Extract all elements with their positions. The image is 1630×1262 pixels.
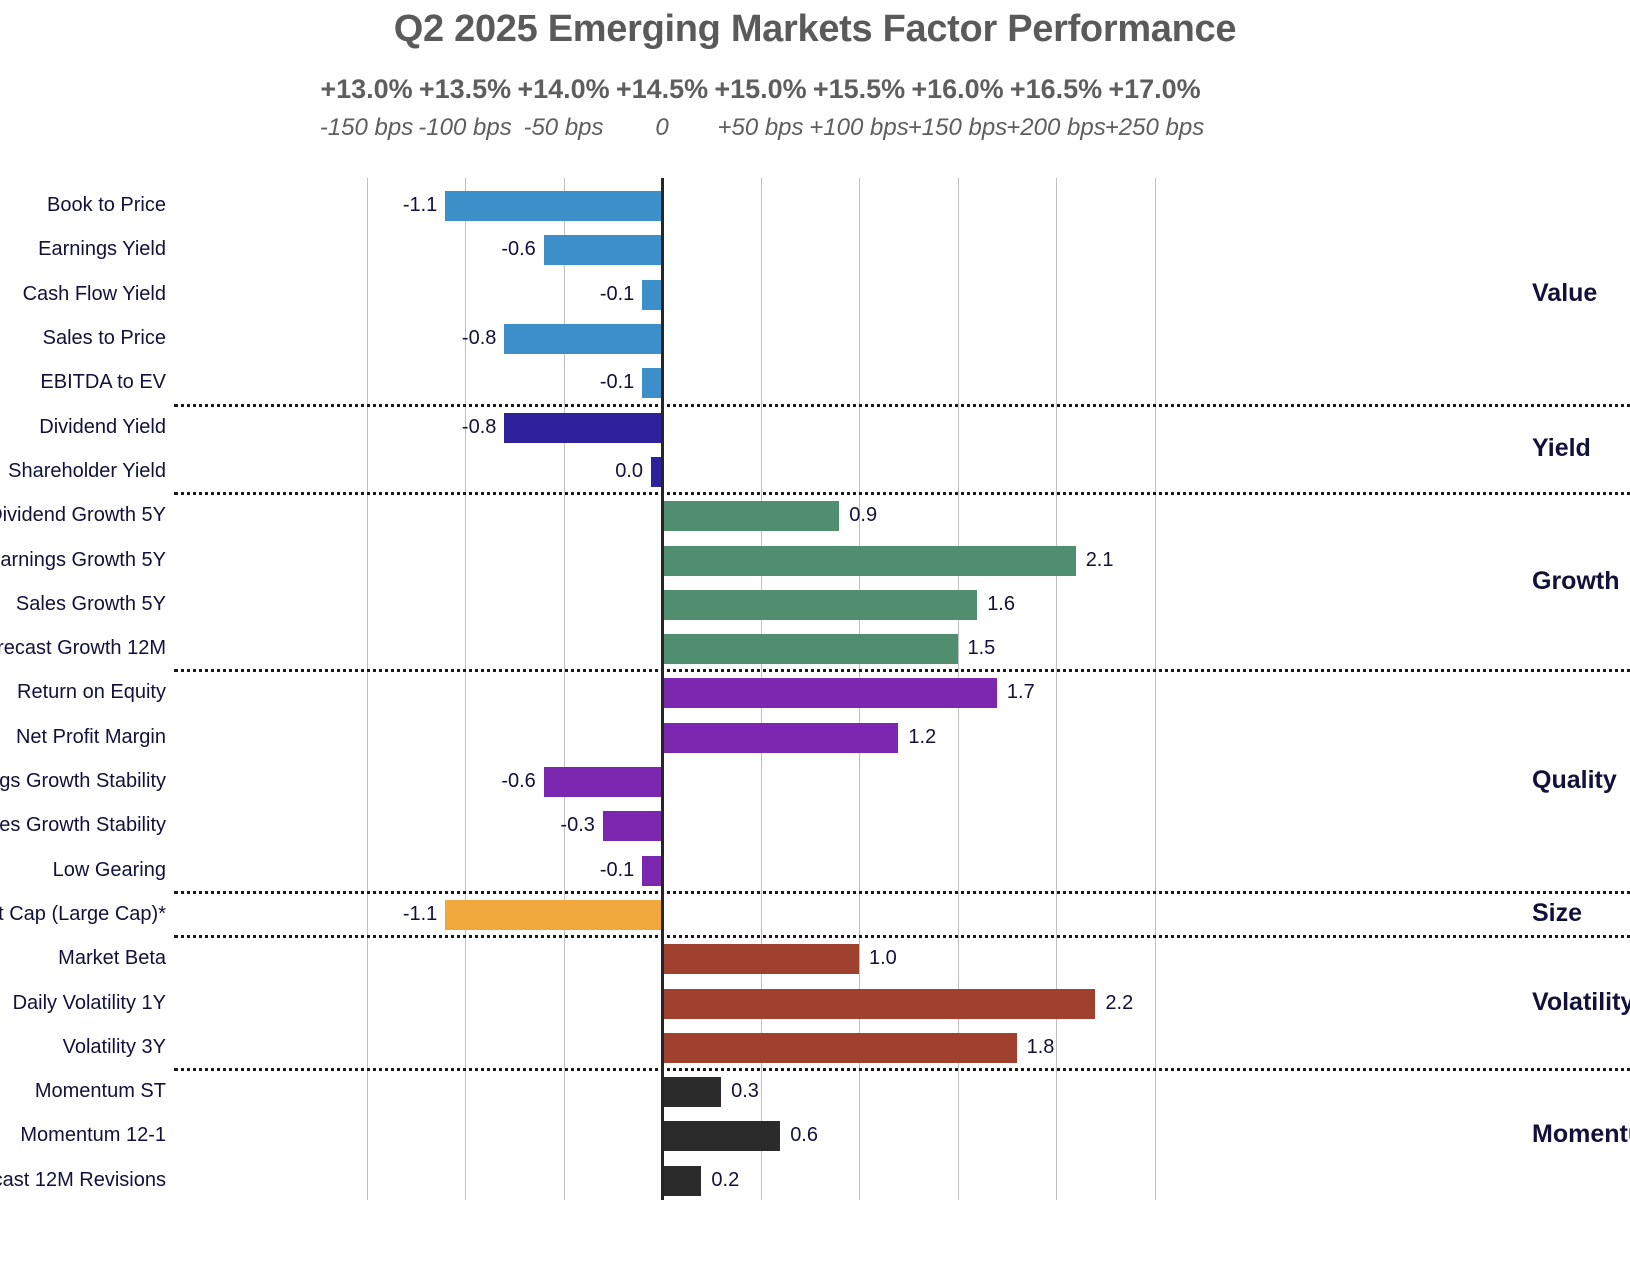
bar-value-label: 1.2: [908, 726, 936, 749]
factor-label: Dividend Yield: [0, 416, 166, 439]
chart-row: Sales to Price-0.8: [176, 317, 1496, 361]
factor-label: EBITDA to EV: [0, 371, 166, 394]
axis-tick-percent-8: +17.0%: [1075, 74, 1235, 105]
bar-value-label: 2.2: [1105, 992, 1133, 1015]
bar-value-label: -0.6: [492, 770, 536, 793]
bar-value-label: 1.5: [968, 637, 996, 660]
group-label-value: Value: [1532, 279, 1597, 308]
chart-row: Low Gearing-0.1: [176, 849, 1496, 893]
group-label-volatility: Volatility: [1532, 988, 1630, 1017]
bar-value-label: 2.1: [1086, 549, 1114, 572]
chart-row: Dividend Growth 5Y0.9: [176, 494, 1496, 538]
chart-row: Shareholder Yield0.0: [176, 450, 1496, 494]
bar-value-label: 1.0: [869, 947, 897, 970]
group-separator: [174, 404, 1630, 407]
chart-row: EBITDA to EV-0.1: [176, 361, 1496, 405]
chart-row: Daily Volatility 1Y2.2: [176, 981, 1496, 1025]
bar-value-label: -1.1: [393, 903, 437, 926]
factor-label: Forecast 12M Revisions: [0, 1169, 166, 1192]
bar[interactable]: [662, 723, 898, 753]
bar[interactable]: [504, 413, 662, 443]
bar-value-label: 0.2: [711, 1169, 739, 1192]
bar[interactable]: [445, 900, 662, 930]
factor-label: Sales Growth Stability: [0, 814, 166, 837]
chart-row: Momentum ST0.3: [176, 1070, 1496, 1114]
group-separator: [174, 1068, 1630, 1071]
factor-label: Shareholder Yield: [0, 460, 166, 483]
bar[interactable]: [544, 235, 662, 265]
bar-value-label: -1.1: [393, 194, 437, 217]
bar[interactable]: [662, 678, 997, 708]
factor-label: Sales Growth 5Y: [0, 593, 166, 616]
chart-row: Earnings Yield-0.6: [176, 228, 1496, 272]
factor-label: Earnings Growth Stability: [0, 770, 166, 793]
group-separator: [174, 492, 1630, 495]
chart-row: Momentum 12-10.6: [176, 1114, 1496, 1158]
factor-label: Momentum 12-1: [0, 1124, 166, 1147]
chart-plot-area: Book to Price-1.1Earnings Yield-0.6Cash …: [176, 178, 1496, 1200]
factor-label: Cash Flow Yield: [0, 283, 166, 306]
group-separator: [174, 891, 1630, 894]
factor-label: Earnings Growth 5Y: [0, 549, 166, 572]
bar[interactable]: [662, 546, 1076, 576]
bar[interactable]: [642, 280, 662, 310]
bar[interactable]: [603, 811, 662, 841]
group-separator: [174, 669, 1630, 672]
factor-label: Forecast Growth 12M: [0, 637, 166, 660]
bar-value-label: -0.8: [452, 327, 496, 350]
bar-value-label: 0.3: [731, 1080, 759, 1103]
bar[interactable]: [662, 944, 859, 974]
group-label-quality: Quality: [1532, 766, 1617, 795]
chart-row: Market Cap (Large Cap)*-1.1: [176, 893, 1496, 937]
bar[interactable]: [662, 1077, 721, 1107]
group-label-size: Size: [1532, 899, 1582, 928]
group-label-growth: Growth: [1532, 567, 1620, 596]
factor-label: Low Gearing: [0, 859, 166, 882]
bar-value-label: 1.8: [1027, 1036, 1055, 1059]
bar-value-label: -0.6: [492, 238, 536, 261]
chart-row: Book to Price-1.1: [176, 184, 1496, 228]
group-label-momentum: Momentum: [1532, 1120, 1630, 1149]
bar-value-label: -0.8: [452, 416, 496, 439]
bar[interactable]: [662, 1121, 780, 1151]
bar-value-label: -0.1: [590, 859, 634, 882]
factor-label: Volatility 3Y: [0, 1036, 166, 1059]
factor-label: Book to Price: [0, 194, 166, 217]
chart-row: Volatility 3Y1.8: [176, 1026, 1496, 1070]
chart-row: Forecast 12M Revisions0.2: [176, 1159, 1496, 1203]
bar[interactable]: [642, 856, 662, 886]
bar[interactable]: [662, 1166, 701, 1196]
bar-value-label: 0.6: [790, 1124, 818, 1147]
bar-value-label: 1.6: [987, 593, 1015, 616]
bar[interactable]: [504, 324, 662, 354]
chart-row: Net Profit Margin1.2: [176, 716, 1496, 760]
bar-value-label: 0.0: [599, 460, 643, 483]
bar[interactable]: [445, 191, 662, 221]
factor-label: Return on Equity: [0, 681, 166, 704]
bar[interactable]: [662, 590, 977, 620]
bar[interactable]: [662, 1033, 1017, 1063]
factor-label: Market Cap (Large Cap)*: [0, 903, 166, 926]
chart-row: Market Beta1.0: [176, 937, 1496, 981]
bar-value-label: -0.1: [590, 371, 634, 394]
chart-row: Earnings Growth Stability-0.6: [176, 760, 1496, 804]
page-title: Q2 2025 Emerging Markets Factor Performa…: [0, 8, 1630, 51]
axis-tick-bps-8: +250 bps: [1075, 114, 1235, 142]
bar[interactable]: [662, 989, 1095, 1019]
bar[interactable]: [662, 634, 958, 664]
bar-value-label: -0.3: [551, 814, 595, 837]
chart-row: Dividend Yield-0.8: [176, 406, 1496, 450]
group-separator: [174, 935, 1630, 938]
bar[interactable]: [544, 767, 662, 797]
factor-label: Net Profit Margin: [0, 726, 166, 749]
factor-label: Earnings Yield: [0, 238, 166, 261]
group-label-yield: Yield: [1532, 434, 1591, 463]
bar[interactable]: [662, 501, 839, 531]
bar-value-label: 1.7: [1007, 681, 1035, 704]
chart-row: Return on Equity1.7: [176, 671, 1496, 715]
factor-label: Market Beta: [0, 947, 166, 970]
zero-axis-line: [661, 178, 664, 1200]
chart-row: Earnings Growth 5Y2.1: [176, 538, 1496, 582]
chart-row: Sales Growth Stability-0.3: [176, 804, 1496, 848]
bar-value-label: -0.1: [590, 283, 634, 306]
chart-row: Sales Growth 5Y1.6: [176, 583, 1496, 627]
factor-label: Daily Volatility 1Y: [0, 992, 166, 1015]
chart-row: Forecast Growth 12M1.5: [176, 627, 1496, 671]
factor-label: Dividend Growth 5Y: [0, 504, 166, 527]
factor-label: Momentum ST: [0, 1080, 166, 1103]
bar-value-label: 0.9: [849, 504, 877, 527]
bar[interactable]: [642, 368, 662, 398]
chart-row: Cash Flow Yield-0.1: [176, 273, 1496, 317]
factor-label: Sales to Price: [0, 327, 166, 350]
